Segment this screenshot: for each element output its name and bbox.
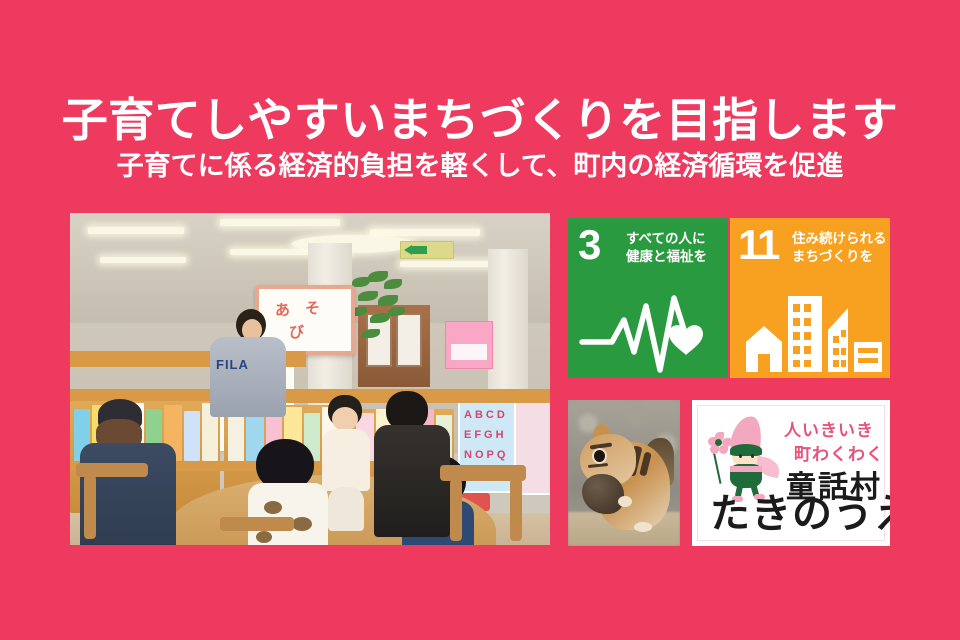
- chair: [84, 475, 96, 539]
- heartbeat-heart-icon: [568, 280, 728, 376]
- asobi-sign-text: び: [289, 321, 304, 342]
- takinoue-fairy-mascot: [706, 414, 790, 500]
- torso: [374, 425, 450, 537]
- ceiling-lamp: [400, 261, 496, 267]
- ceiling-lamp: [88, 227, 184, 234]
- sash: [730, 466, 762, 472]
- poster-root: 子育てしやすいまちづくりを目指します 子育てに係る経済的負担を軽くして、町内の経…: [0, 0, 960, 640]
- abc-poster-row: NOPQ: [464, 449, 508, 461]
- sdg-card-11[interactable]: 11 住み続けられる まちづくりを: [730, 218, 890, 378]
- sdg-label-line1: すべての人に: [626, 230, 707, 248]
- book: [184, 411, 200, 461]
- potted-plant: [348, 271, 410, 349]
- torso: [322, 429, 370, 491]
- sdg-label-line2: まちづくりを: [792, 248, 887, 266]
- eye: [594, 450, 605, 462]
- hoodie-logo-text: FILA: [216, 357, 249, 372]
- pink-notice: [445, 321, 493, 369]
- chair: [510, 479, 522, 541]
- sdg-label: すべての人に 健康と福祉を: [626, 230, 707, 266]
- chair: [450, 479, 462, 541]
- logo-tagline-line1: 人いきいき: [784, 416, 874, 441]
- asobi-sign-text: あ: [275, 299, 290, 320]
- sakura-flower-icon: [708, 432, 730, 454]
- face: [332, 407, 358, 431]
- sdg-card-3[interactable]: 3 すべての人に 健康と福祉を: [568, 218, 728, 378]
- sdg-number: 11: [738, 224, 778, 266]
- ceiling-lamp: [100, 257, 186, 263]
- ceiling-lamp: [370, 229, 480, 236]
- paw: [634, 522, 652, 532]
- page-title: 子育てしやすいまちづくりを目指します: [0, 96, 960, 145]
- exit-arrow-icon: [404, 245, 412, 255]
- abc-poster-row: EFGH: [464, 429, 507, 441]
- sdg-number: 3: [578, 224, 600, 266]
- paw: [618, 496, 632, 507]
- library-interior-photo: あ そ び ABCD EFGH NOPQ RSTU: [70, 213, 550, 545]
- ceiling-lamp: [220, 219, 340, 226]
- city-buildings-icon: [730, 280, 890, 376]
- book: [228, 411, 244, 463]
- abc-poster-row: ABCD: [464, 409, 508, 421]
- chair: [220, 517, 294, 531]
- town-logo[interactable]: 人いきいき 町わくわく 童話村 たきのうえ: [692, 400, 890, 546]
- legs: [328, 487, 364, 531]
- logo-big-text: たきのうえ: [710, 494, 886, 534]
- sakura-wand: [712, 450, 721, 484]
- hoodie: [210, 337, 286, 417]
- hair: [730, 444, 762, 456]
- sdg-label-line1: 住み続けられる: [792, 230, 887, 248]
- page-subtitle: 子育てに係る経済的負担を軽くして、町内の経済循環を促進: [0, 152, 960, 182]
- exit-figure-icon: [412, 246, 427, 254]
- exit-sign: [400, 241, 454, 259]
- sdg-label: 住み続けられる まちづくりを: [792, 230, 887, 266]
- chipmunk-photo: [568, 400, 680, 546]
- asobi-sign-text: そ: [305, 297, 320, 318]
- logo-frame: 人いきいき 町わくわく 童話村 たきのうえ: [697, 405, 885, 541]
- sdg-label-line2: 健康と福祉を: [626, 248, 707, 266]
